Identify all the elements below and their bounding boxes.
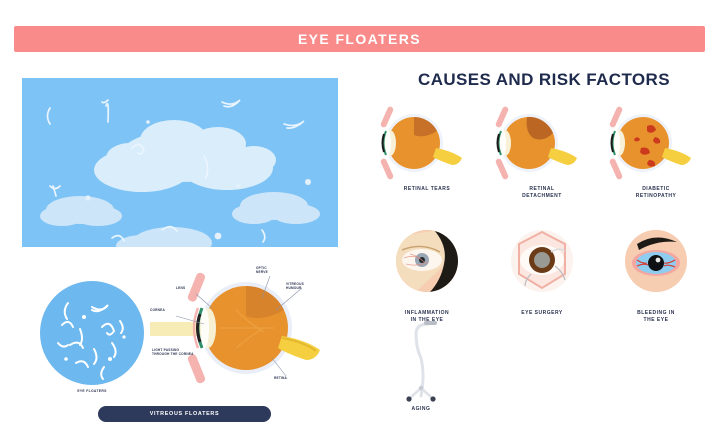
eye-floaters-circle bbox=[40, 281, 144, 385]
sky-scene-svg bbox=[22, 78, 338, 247]
bloodshot-eye-svg bbox=[625, 230, 687, 292]
cause-aging: AGING bbox=[362, 318, 480, 413]
cause-bleeding: BLEEDING IN THE EYE bbox=[597, 228, 715, 325]
retinal-detachment-art bbox=[483, 104, 601, 182]
walking-cane-icon bbox=[398, 318, 444, 404]
inflammation-art bbox=[368, 228, 486, 306]
bloodshot-eye-circle bbox=[625, 230, 687, 292]
surgery-eye-circle bbox=[511, 230, 573, 292]
cause-caption: RETINAL DETACHMENT bbox=[483, 186, 601, 201]
cause-retinal-tears: RETINAL TEARS bbox=[368, 104, 486, 193]
title-banner: EYE FLOATERS bbox=[14, 26, 705, 52]
infographic-page: EYE FLOATERS bbox=[0, 0, 720, 447]
eye-floaters-circle-label: EYE FLOATERS bbox=[40, 389, 144, 393]
walking-cane-svg bbox=[398, 318, 444, 404]
eye-cross-section-icon bbox=[368, 104, 486, 182]
cause-diabetic-retinopathy: DIABETIC RETINOPATHY bbox=[597, 104, 715, 201]
cause-caption: RETINAL TEARS bbox=[368, 186, 486, 193]
eye-surgery-art bbox=[483, 228, 601, 306]
aging-art bbox=[362, 318, 480, 404]
anat-label-vitreous: VITREOUS HUMOUR bbox=[286, 282, 304, 290]
inflamed-eye-circle bbox=[396, 230, 458, 292]
diabetic-retinopathy-art bbox=[597, 104, 715, 182]
eye-cross-section-icon bbox=[597, 104, 715, 182]
floaters-in-sky-illustration bbox=[22, 78, 338, 247]
anat-label-cornea: CORNEA bbox=[150, 308, 165, 312]
page-title: EYE FLOATERS bbox=[298, 31, 421, 47]
retinal-tears-art bbox=[368, 104, 486, 182]
cause-eye-surgery: EYE SURGERY bbox=[483, 228, 601, 317]
cause-caption: AGING bbox=[362, 406, 480, 413]
anat-label-optic-nerve: OPTIC NERVE bbox=[256, 266, 268, 274]
cause-caption: EYE SURGERY bbox=[483, 310, 601, 317]
inflamed-eye-svg bbox=[396, 230, 458, 292]
section-heading: CAUSES AND RISK FACTORS bbox=[394, 70, 694, 90]
vitreous-floaters-pill: VITREOUS FLOATERS bbox=[98, 406, 271, 422]
bleeding-eye-art bbox=[597, 228, 715, 306]
pill-label: VITREOUS FLOATERS bbox=[150, 411, 220, 417]
eye-cross-section-icon bbox=[483, 104, 601, 182]
floaters-squiggles-svg bbox=[40, 281, 144, 385]
eye-cross-section-svg bbox=[150, 258, 340, 398]
anat-label-lens: LENS bbox=[176, 286, 185, 290]
cause-retinal-detachment: RETINAL DETACHMENT bbox=[483, 104, 601, 201]
cause-caption: BLEEDING IN THE EYE bbox=[597, 310, 715, 325]
cause-caption: DIABETIC RETINOPATHY bbox=[597, 186, 715, 201]
anat-label-retina: RETINA bbox=[274, 376, 287, 380]
cause-inflammation: INFLAMMATION IN THE EYE bbox=[368, 228, 486, 325]
anat-label-light: LIGHT PASSING THROUGH THE CORNEA bbox=[152, 348, 194, 356]
surgery-eye-svg bbox=[511, 230, 573, 292]
vitreous-floaters-diagram: LENS CORNEA LIGHT PASSING THROUGH THE CO… bbox=[150, 258, 340, 398]
